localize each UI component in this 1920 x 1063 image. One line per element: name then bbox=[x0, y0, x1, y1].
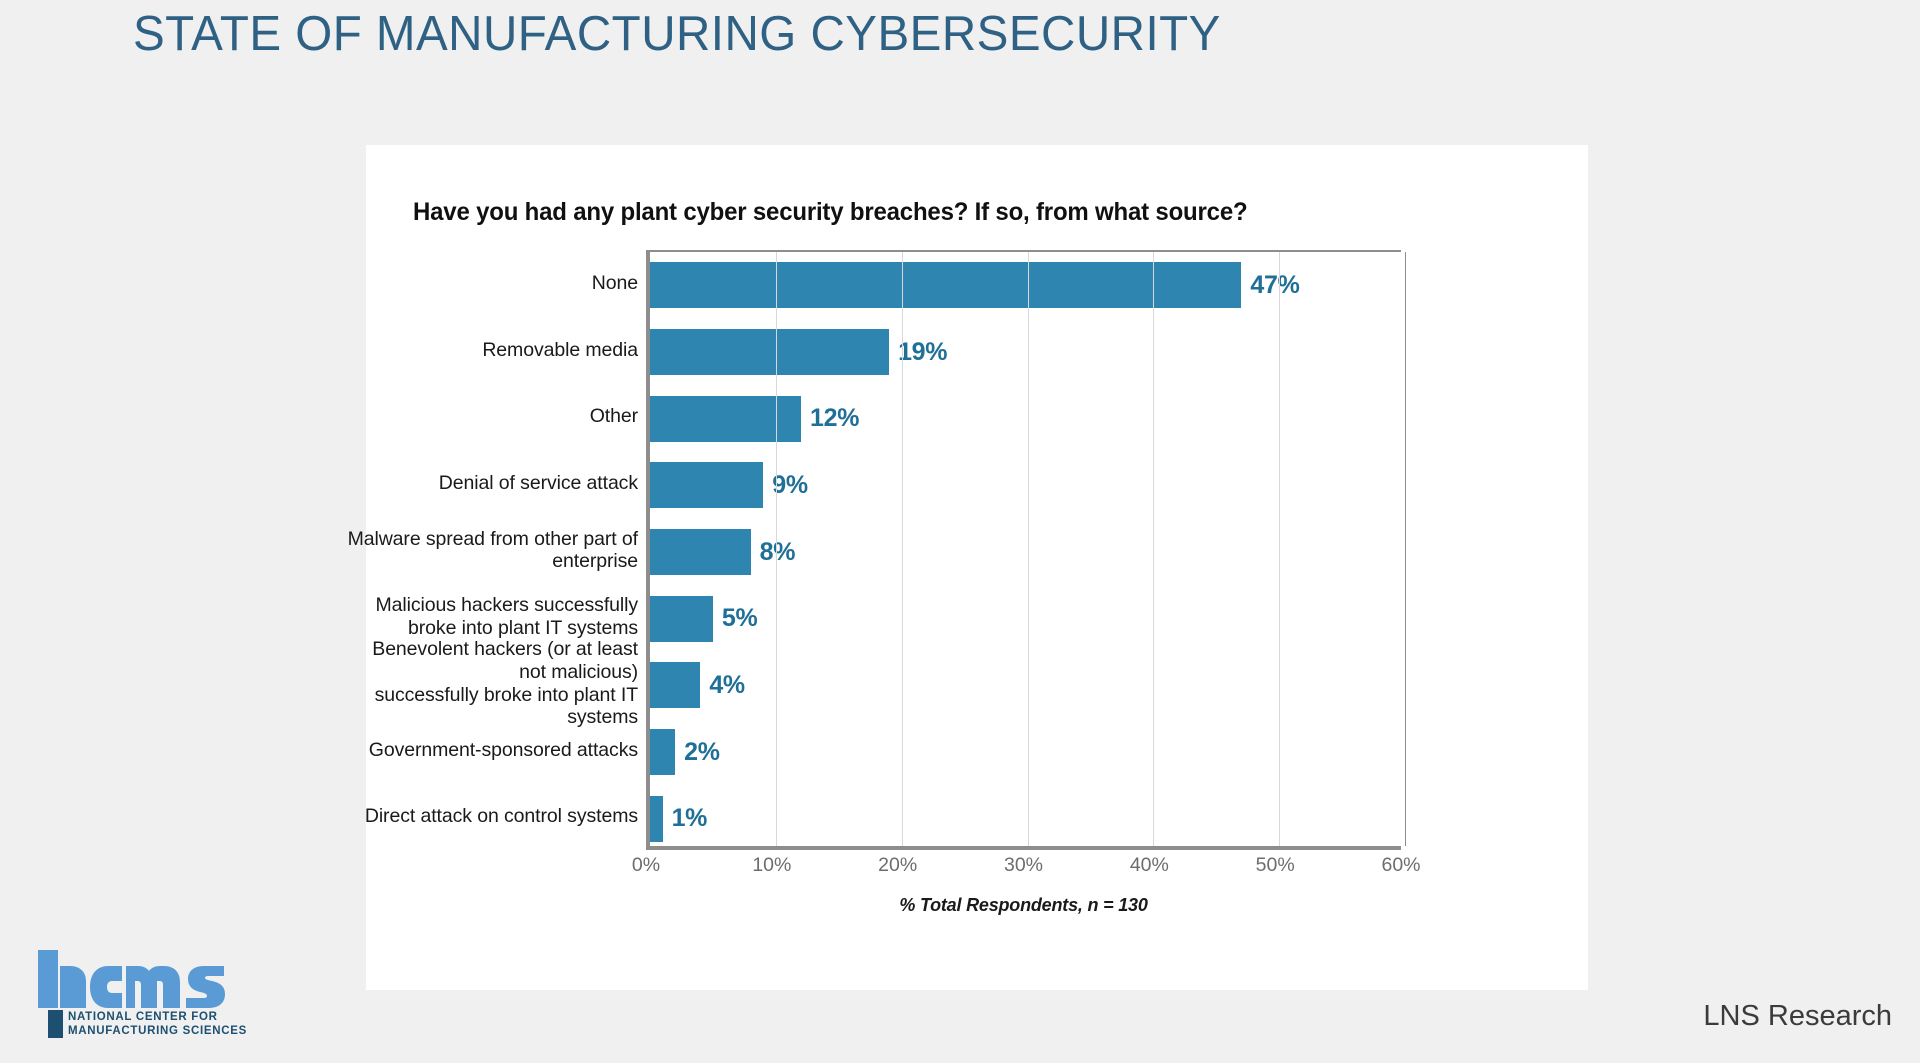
gridline bbox=[776, 252, 777, 846]
chart-title: Have you had any plant cyber security br… bbox=[413, 198, 1247, 227]
category-label: Government-sponsored attacks bbox=[346, 739, 638, 762]
category-label: Direct attack on control systems bbox=[346, 805, 638, 828]
bar-row: 5% bbox=[650, 596, 757, 642]
bar-row: 9% bbox=[650, 462, 808, 508]
bar-row: 2% bbox=[650, 729, 720, 775]
x-axis-ticks: 0%10%20%30%40%50%60% bbox=[646, 854, 1401, 884]
bar-row: 1% bbox=[650, 796, 707, 842]
attribution-label: LNS Research bbox=[1703, 1000, 1892, 1033]
bar-value-label: 4% bbox=[709, 671, 745, 700]
ncms-wordmark-icon bbox=[36, 948, 228, 1010]
x-axis-label: % Total Respondents, n = 130 bbox=[646, 895, 1401, 916]
bar-value-label: 47% bbox=[1250, 271, 1299, 300]
bars-container: 47%19%12%9%8%5%4%2%1% bbox=[650, 252, 1401, 846]
gridline bbox=[1028, 252, 1029, 846]
bar bbox=[650, 462, 763, 508]
category-axis-labels: NoneRemovable mediaOtherDenial of servic… bbox=[346, 250, 638, 850]
ncms-line1: NATIONAL CENTER FOR bbox=[68, 1010, 247, 1024]
bar-value-label: 9% bbox=[772, 471, 808, 500]
category-label: None bbox=[346, 272, 638, 295]
bar bbox=[650, 662, 700, 708]
bar-value-label: 12% bbox=[810, 404, 859, 433]
x-tick-label: 20% bbox=[878, 854, 917, 877]
x-tick-label: 60% bbox=[1381, 854, 1420, 877]
bar bbox=[650, 729, 675, 775]
bar-value-label: 8% bbox=[760, 538, 796, 567]
x-tick-label: 50% bbox=[1256, 854, 1295, 877]
gridline bbox=[902, 252, 903, 846]
bar-row: 12% bbox=[650, 396, 859, 442]
bar-value-label: 5% bbox=[722, 604, 758, 633]
ncms-line2: MANUFACTURING SCIENCES bbox=[68, 1024, 247, 1038]
axis-frame: 47%19%12%9%8%5%4%2%1% bbox=[646, 250, 1401, 850]
page-title: STATE OF MANUFACTURING CYBERSECURITY bbox=[133, 6, 1221, 62]
category-label: Malware spread from other part of enterp… bbox=[346, 528, 638, 573]
bar-row: 4% bbox=[650, 662, 745, 708]
category-label: Benevolent hackers (or at least not mali… bbox=[346, 638, 638, 728]
gridline bbox=[1153, 252, 1154, 846]
bar-value-label: 2% bbox=[684, 738, 720, 767]
category-label: Other bbox=[346, 405, 638, 428]
ncms-square-icon bbox=[48, 1010, 63, 1038]
ncms-subtitle: NATIONAL CENTER FOR MANUFACTURING SCIENC… bbox=[48, 1010, 247, 1038]
x-tick-label: 0% bbox=[632, 854, 660, 877]
chart-card: Have you had any plant cyber security br… bbox=[366, 145, 1588, 990]
bar bbox=[650, 796, 663, 842]
gridline bbox=[1405, 252, 1406, 846]
bar-value-label: 1% bbox=[672, 804, 708, 833]
bar-value-label: 19% bbox=[898, 338, 947, 367]
x-tick-label: 10% bbox=[752, 854, 791, 877]
ncms-logo: NATIONAL CENTER FOR MANUFACTURING SCIENC… bbox=[36, 948, 228, 1040]
bar bbox=[650, 329, 889, 375]
bar bbox=[650, 596, 713, 642]
x-tick-label: 30% bbox=[1004, 854, 1043, 877]
bar bbox=[650, 396, 801, 442]
x-tick-label: 40% bbox=[1130, 854, 1169, 877]
bar-row: 47% bbox=[650, 262, 1300, 308]
bar bbox=[650, 529, 751, 575]
gridline bbox=[1279, 252, 1280, 846]
bar-row: 8% bbox=[650, 529, 795, 575]
category-label: Removable media bbox=[346, 339, 638, 362]
category-label: Denial of service attack bbox=[346, 472, 638, 495]
plot-area: NoneRemovable mediaOtherDenial of servic… bbox=[646, 250, 1541, 965]
category-label: Malicious hackers successfullybroke into… bbox=[346, 594, 638, 639]
